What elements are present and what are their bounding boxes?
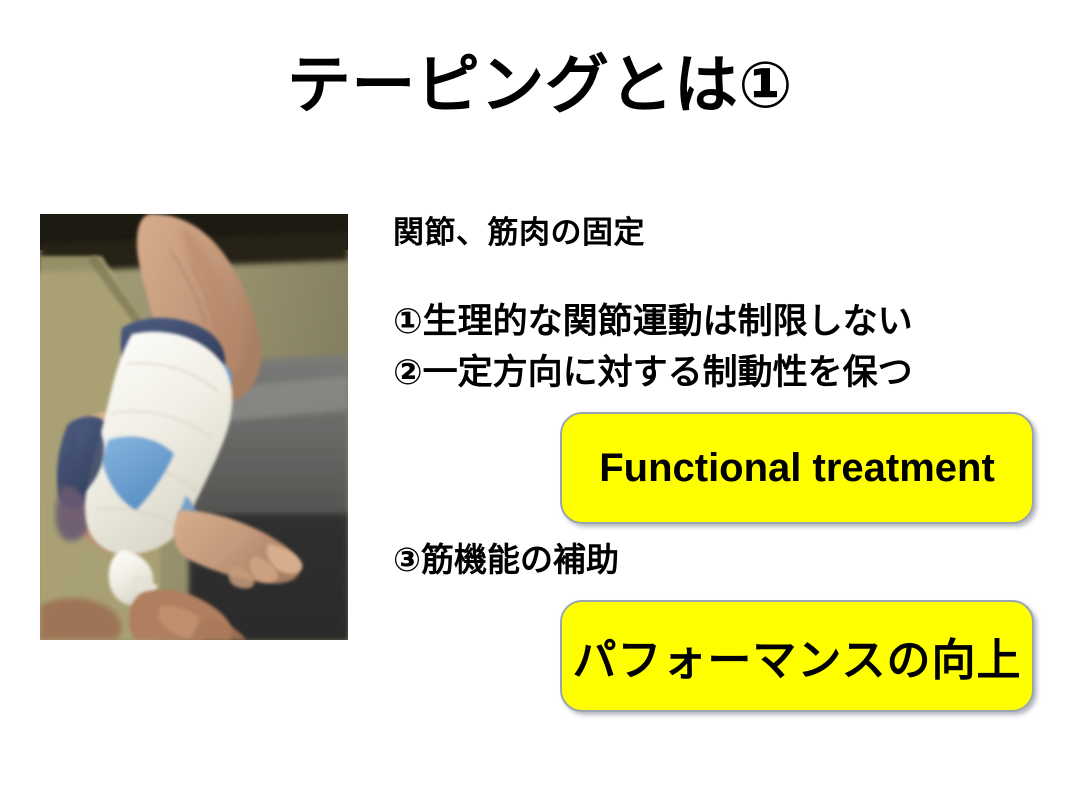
callout-box-performance: パフォーマンスの向上 <box>560 600 1034 712</box>
callout-label-1: Functional treatment <box>599 446 995 491</box>
text-spacer <box>393 252 1013 296</box>
body-heading: 関節、筋肉の固定 <box>393 214 1013 252</box>
taped-ankle-photo <box>40 214 348 640</box>
taped-ankle-illustration <box>40 214 348 640</box>
body-text-block: 関節、筋肉の固定 ①生理的な関節運動は制限しない ②一定方向に対する制動性を保つ <box>393 214 1013 398</box>
body-item-2: ②一定方向に対する制動性を保つ <box>393 347 1013 398</box>
body-item-1: ①生理的な関節運動は制限しない <box>393 296 1013 347</box>
body-item-3: ③筋機能の補助 <box>393 540 619 580</box>
page-title: テーピングとは① <box>0 50 1080 120</box>
callout-box-functional-treatment: Functional treatment <box>560 412 1034 524</box>
callout-label-2: パフォーマンスの向上 <box>572 624 1021 688</box>
